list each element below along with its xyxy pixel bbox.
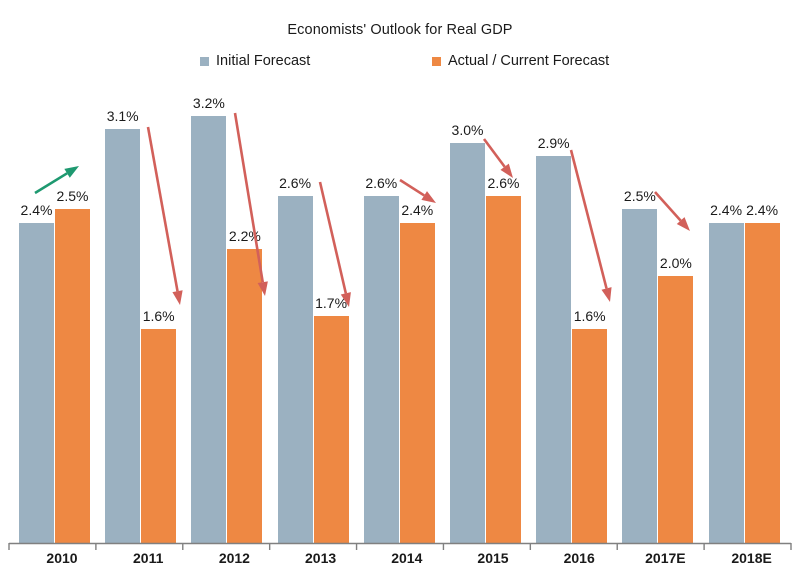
bar-2012-initial[interactable] [191,116,226,543]
bar-value-label-2017E-initial: 2.5% [614,188,665,204]
bar-2011-actual[interactable] [141,329,176,543]
bar-value-label-2012-actual: 2.2% [219,228,270,244]
bar-value-label-2014-initial: 2.6% [356,175,407,191]
bar-value-label-2014-actual: 2.4% [392,202,443,218]
bar-value-label-2013-initial: 2.6% [270,175,321,191]
bar-value-label-2011-actual: 1.6% [133,308,184,324]
bar-value-label-2015-actual: 2.6% [478,175,529,191]
plot-area: 2.4%2.5%20103.1%1.6%20113.2%2.2%20122.6%… [0,0,800,583]
bar-2016-actual[interactable] [572,329,607,543]
bar-2013-initial[interactable] [278,196,313,543]
bar-2015-actual[interactable] [486,196,521,543]
chart-container: Economists' Outlook for Real GDP Initial… [0,0,800,583]
bar-value-label-2017E-actual: 2.0% [650,255,701,271]
bar-2010-actual[interactable] [55,209,90,543]
bar-2013-actual[interactable] [314,316,349,543]
bar-value-label-2015-initial: 3.0% [442,122,493,138]
x-axis-label-2018E: 2018E [701,550,800,566]
bar-value-label-2011-initial: 3.1% [97,108,148,124]
bar-value-label-2012-initial: 3.2% [183,95,234,111]
bar-2017E-actual[interactable] [658,276,693,543]
bar-2015-initial[interactable] [450,143,485,544]
bar-2016-initial[interactable] [536,156,571,543]
bar-value-label-2013-actual: 1.7% [306,295,357,311]
bar-value-label-2016-initial: 2.9% [528,135,579,151]
bar-value-label-2018E-actual: 2.4% [737,202,788,218]
bar-2014-actual[interactable] [400,223,435,543]
bar-value-label-2010-actual: 2.5% [47,188,98,204]
bar-value-label-2016-actual: 1.6% [564,308,615,324]
bar-2014-initial[interactable] [364,196,399,543]
bar-2018E-actual[interactable] [745,223,780,543]
bar-2012-actual[interactable] [227,249,262,543]
bar-2018E-initial[interactable] [709,223,744,543]
bar-2011-initial[interactable] [105,129,140,543]
bar-2010-initial[interactable] [19,223,54,543]
